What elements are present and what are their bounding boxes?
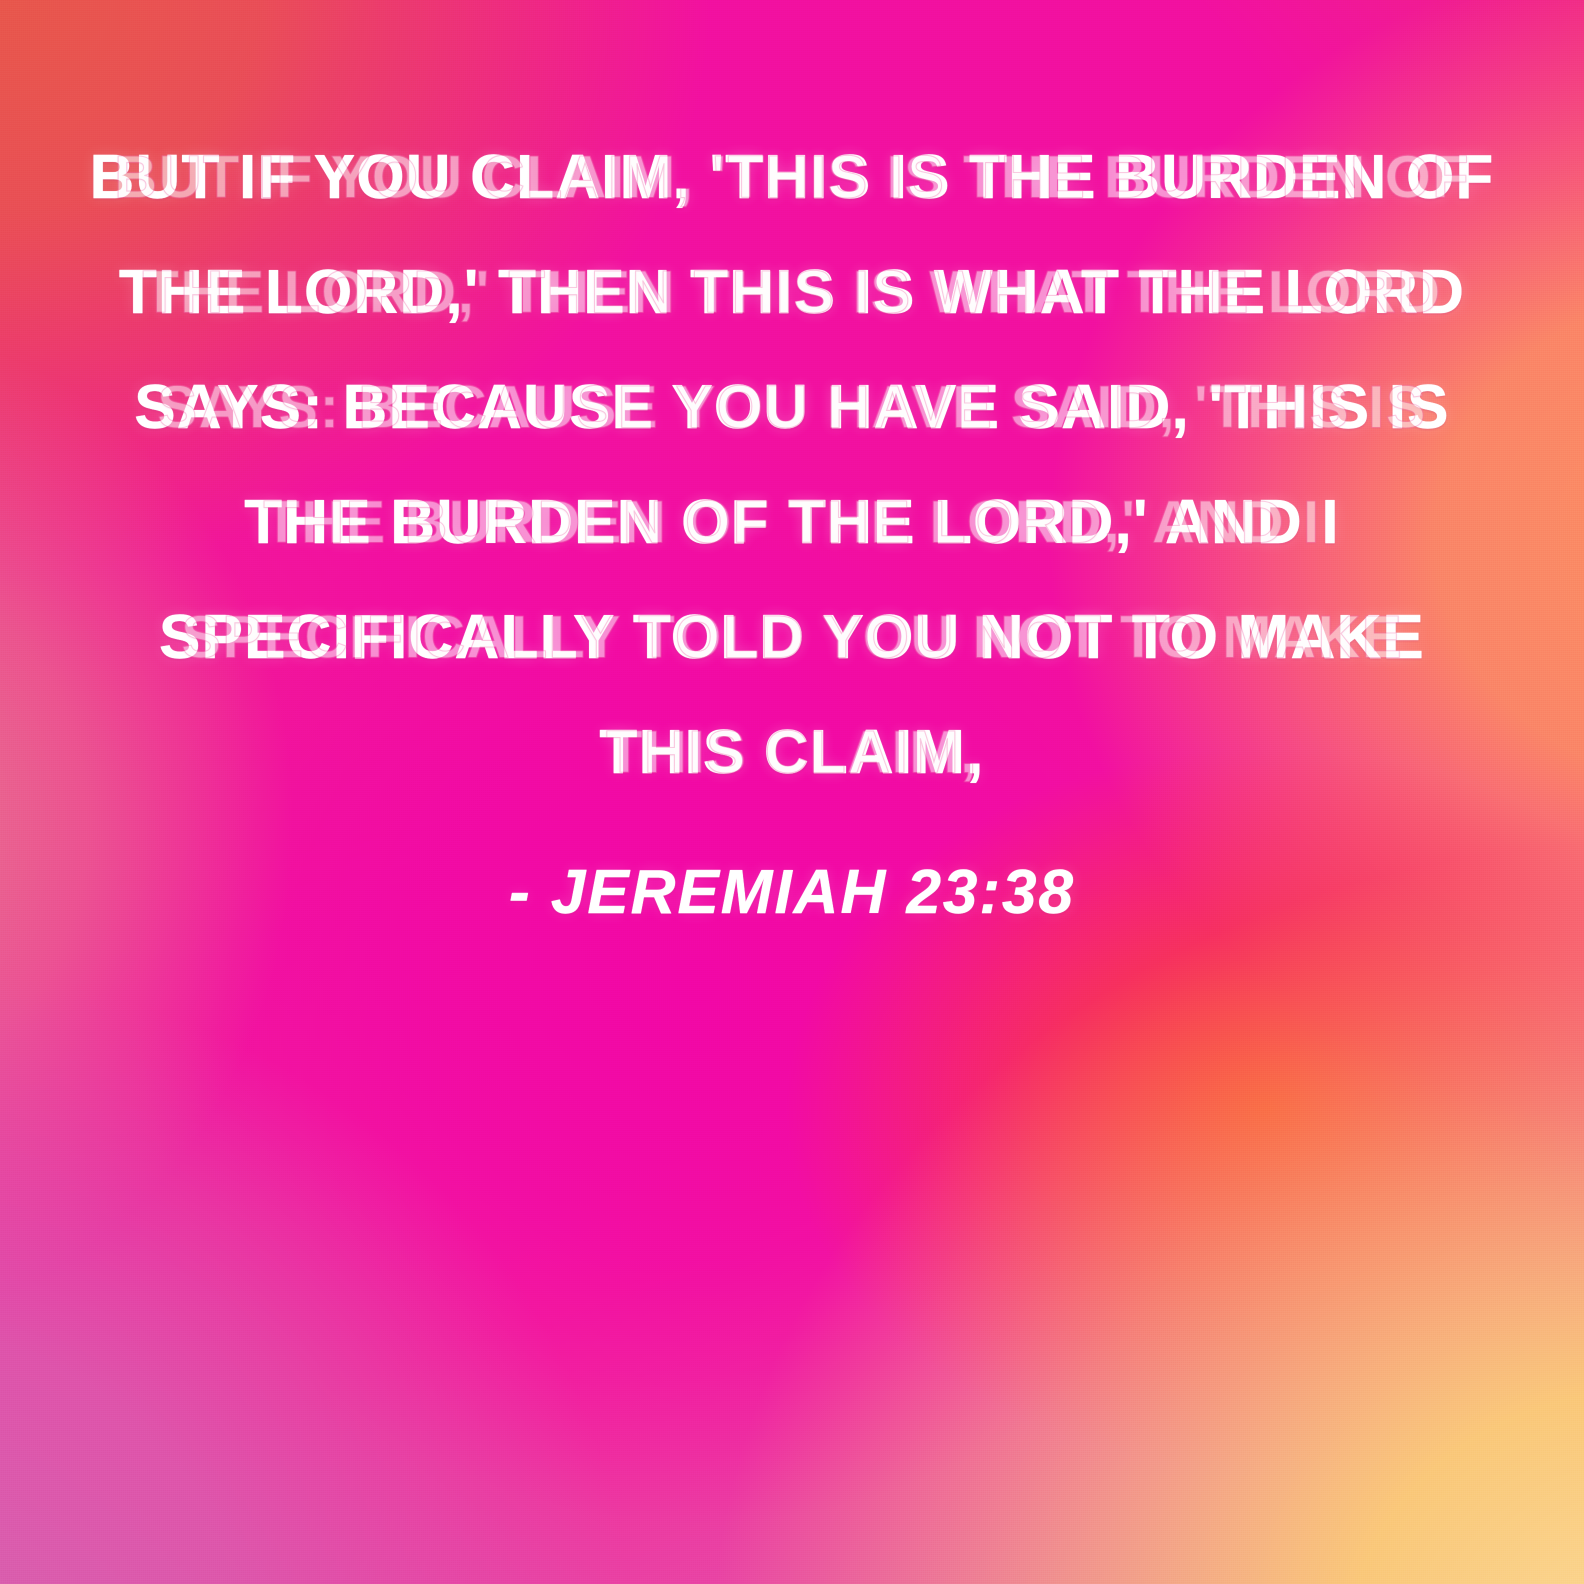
verse-line: THE LORD,' THEN THIS IS WHAT THE LORD	[86, 235, 1498, 350]
verse-attribution: - JEREMIAH 23:38	[86, 854, 1498, 932]
verse-line: THIS CLAIM,	[86, 695, 1498, 810]
verse-line: THE BURDEN OF THE LORD,' AND I	[86, 465, 1498, 580]
verse-line: SPECIFICALLY TOLD YOU NOT TO MAKE	[86, 580, 1498, 695]
verse-line: SAYS: BECAUSE YOU HAVE SAID, 'THIS IS	[86, 350, 1498, 465]
verse-image-canvas: BUT IF YOU CLAIM, 'THIS IS THE BURDEN OF…	[0, 0, 1584, 1584]
verse-line: BUT IF YOU CLAIM, 'THIS IS THE BURDEN OF	[86, 120, 1498, 235]
verse-text-block: BUT IF YOU CLAIM, 'THIS IS THE BURDEN OF…	[0, 120, 1584, 932]
